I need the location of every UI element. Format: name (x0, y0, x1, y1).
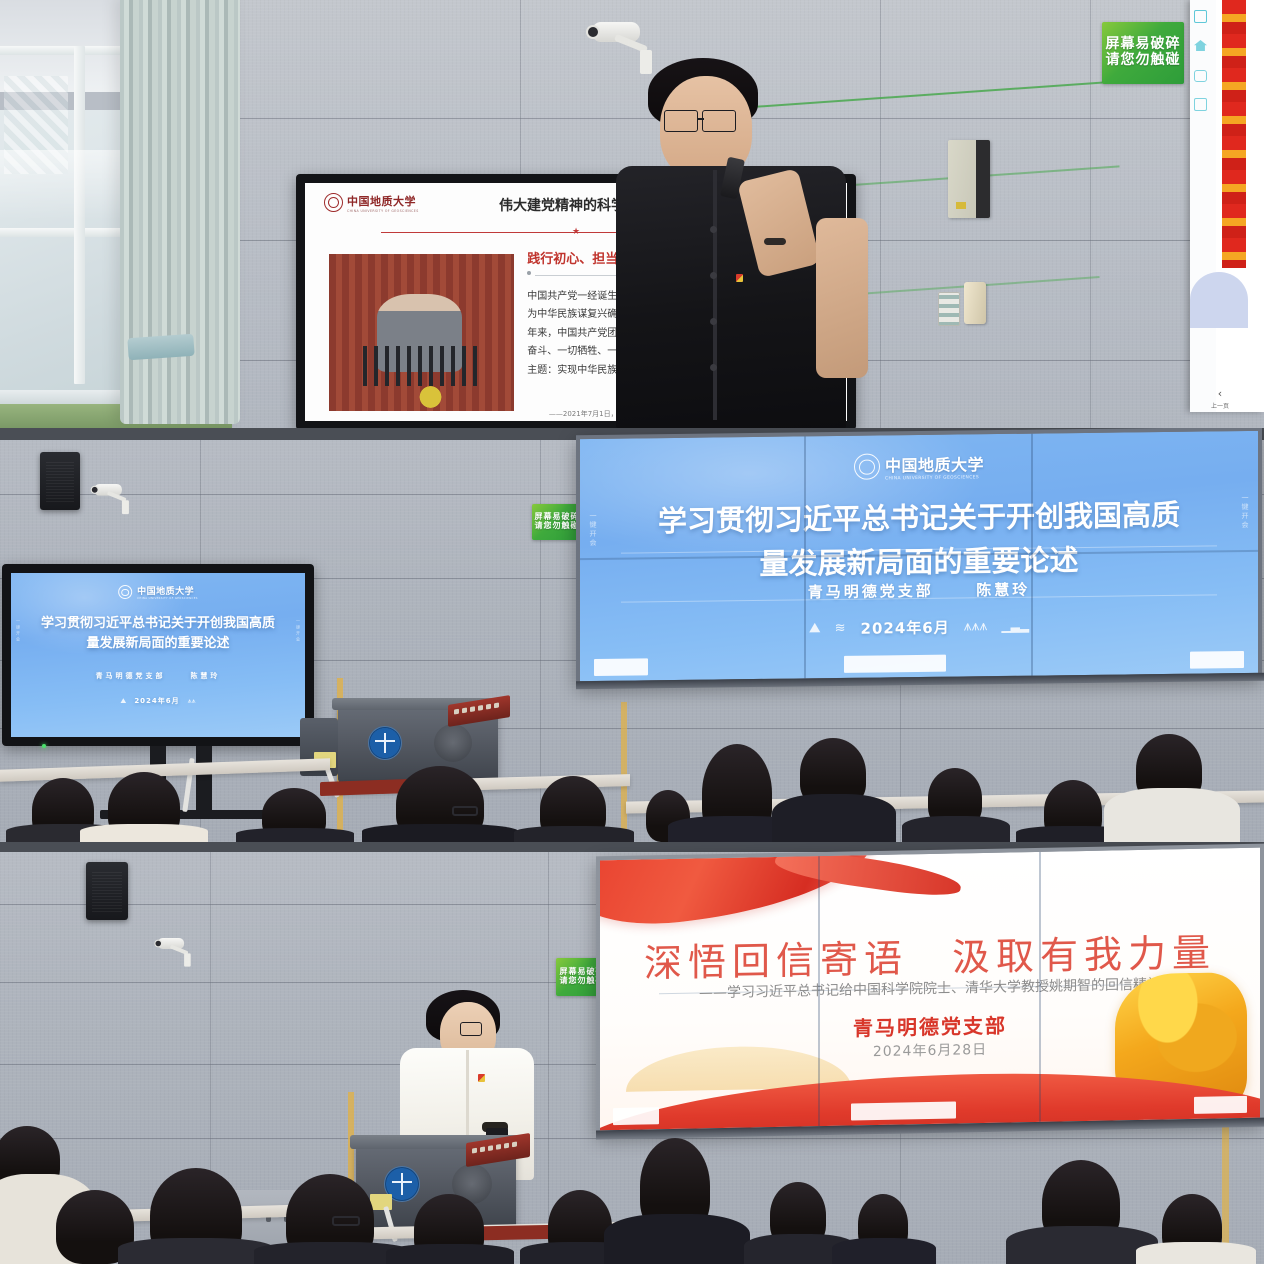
university-logo-2: 中国地质大学 CHINA UNIVERSITY OF GEOSCIENCES (854, 451, 984, 482)
wall-sensor-box (948, 140, 990, 218)
slide-thumbnail[interactable] (1222, 0, 1246, 268)
slide-b-mirror: 中国地质大学 CHINA UNIVERSITY OF GEOSCIENCES 学… (11, 573, 305, 737)
party-emblem-pin (478, 1074, 485, 1082)
peaks-motif-icon: ⩚⩚⩚ (964, 618, 988, 634)
adjacent-display-edge: ‹ 上一页 (1190, 0, 1264, 412)
slide-b-date: 2024年6月 (861, 616, 950, 638)
slide-b-branch: 青马明德党支部 (96, 672, 166, 680)
display-screen-2-small[interactable]: 中国地质大学 CHINA UNIVERSITY OF GEOSCIENCES 学… (11, 573, 305, 737)
university-name-cn: 中国地质大学 (137, 584, 198, 597)
party-emblem-pin (736, 274, 743, 282)
screen-warning-sign: 屏幕易破碎 请您勿触碰 (532, 504, 582, 540)
slide-b-datebar: ⛰ ≋ 2024年6月 ⩚⩚⩚ ▁▃▂ (580, 612, 1258, 641)
warning-line-2: 请您勿触碰 (535, 522, 580, 531)
edit-icon[interactable] (1194, 10, 1207, 23)
curtain-tieback (127, 334, 194, 361)
prev-page-label[interactable]: 上一页 (1190, 401, 1250, 410)
ceiling-speaker (40, 452, 80, 510)
university-name-en: CHINA UNIVERSITY OF GEOSCIENCES (137, 597, 198, 600)
star-icon: ★ (572, 227, 580, 237)
lectern-note-tag (370, 1194, 392, 1210)
peaks-motif-icon: ⩚⩚ (188, 697, 196, 706)
comment-icon[interactable] (1194, 70, 1207, 82)
screen-warning-sign: 屏幕易破碎 请您勿触碰 (1102, 22, 1184, 84)
mountain-motif-icon: ⛰ (120, 697, 126, 706)
interactive-flat-panel-2[interactable]: 中国地质大学 CHINA UNIVERSITY OF GEOSCIENCES 学… (2, 564, 314, 746)
collage-panel-bottom: 屏幕易破碎 请您勿触碰 深悟回信寄语 汲取有我力量 ——学习习近平总书记给中国科… (0, 842, 1264, 1264)
slide-b-title-line: 量发展新局面的重要论述 (23, 634, 294, 654)
display-stand-column (196, 746, 212, 812)
ceiling-speaker (86, 862, 128, 920)
osd-label-right: 一键开会 (295, 619, 301, 643)
wrist-band (764, 238, 786, 245)
prev-page-glyph[interactable]: ‹ (1190, 387, 1250, 400)
slide-b-title-line: 学习贯彻习近平总书记关于开创我国高质 (607, 492, 1231, 545)
osd-label-left: 一键开会 (15, 619, 21, 643)
app-icon[interactable] (1194, 98, 1207, 111)
osd-label-left: 一键开会 (588, 512, 598, 548)
slide-c: 深悟回信寄语 汲取有我力量 ——学习习近平总书记给中国科学院院士、清华大学教授姚… (600, 848, 1260, 1131)
wall-trim (621, 702, 627, 842)
slide-b-datebar: ⛰ 2024年6月 ⩚⩚ (11, 696, 305, 706)
collage-panel-top: 屏幕易破碎 请您勿触碰 ‹ 上一页 中国地质大学 (0, 0, 1264, 428)
collage-panel-middle: 屏幕易破碎 请您勿触碰 中国地质大学 CHINA UNIVERSITY OF G… (0, 428, 1264, 842)
wall-intercom (938, 282, 986, 330)
university-logo-2b: 中国地质大学 CHINA UNIVERSITY OF GEOSCIENCES (118, 584, 198, 600)
university-emblem-icon (368, 726, 402, 760)
lectern-disc (434, 724, 472, 762)
led-video-wall-3[interactable]: 深悟回信寄语 汲取有我力量 ——学习习近平总书记给中国科学院院士、清华大学教授姚… (596, 844, 1264, 1135)
display-screen-2[interactable]: 中国地质大学 CHINA UNIVERSITY OF GEOSCIENCES 学… (580, 431, 1258, 681)
photo-collage: 屏幕易破碎 请您勿触碰 ‹ 上一页 中国地质大学 (0, 0, 1264, 1264)
shirt-placket (713, 170, 717, 420)
slide-b-presenter: 陈慧玲 (190, 672, 220, 680)
display-screen-3[interactable]: 深悟回信寄语 汲取有我力量 ——学习习近平总书记给中国科学院院士、清华大学教授姚… (600, 848, 1260, 1131)
warning-line-2: 请您勿触碰 (1106, 53, 1181, 69)
wave-motif-icon: ≋ (835, 620, 847, 635)
slide-b-date: 2024年6月 (134, 696, 179, 706)
university-name-cn: 中国地质大学 (885, 451, 984, 476)
slide-b: 中国地质大学 CHINA UNIVERSITY OF GEOSCIENCES 学… (580, 431, 1258, 681)
red-ribbon-decoration (600, 848, 880, 934)
osd-label-right: 一键开会 (1240, 494, 1250, 530)
slide-b-title-line: 学习贯彻习近平总书记关于开创我国高质 (23, 614, 294, 634)
led-video-wall-2[interactable]: 中国地质大学 CHINA UNIVERSITY OF GEOSCIENCES 学… (576, 428, 1262, 685)
window-curtain (120, 0, 240, 424)
city-motif-icon: ▁▃▂ (1001, 619, 1029, 633)
audience-glasses (332, 1216, 360, 1226)
mountain-motif-icon: ⛰ (809, 620, 821, 636)
audience-glasses (452, 806, 478, 816)
presenter-panel-1 (598, 58, 900, 428)
slide-b-title: 学习贯彻习近平总书记关于开创我国高质 量发展新局面的重要论述 (607, 492, 1231, 589)
warning-line-1: 屏幕易破碎 (1106, 37, 1181, 53)
slide-b-presenter-row: 青马明德党支部 陈慧玲 (11, 671, 305, 681)
slide-a-photo (329, 254, 513, 411)
slide-b-title: 学习贯彻习近平总书记关于开创我国高质 量发展新局面的重要论述 (23, 614, 294, 654)
